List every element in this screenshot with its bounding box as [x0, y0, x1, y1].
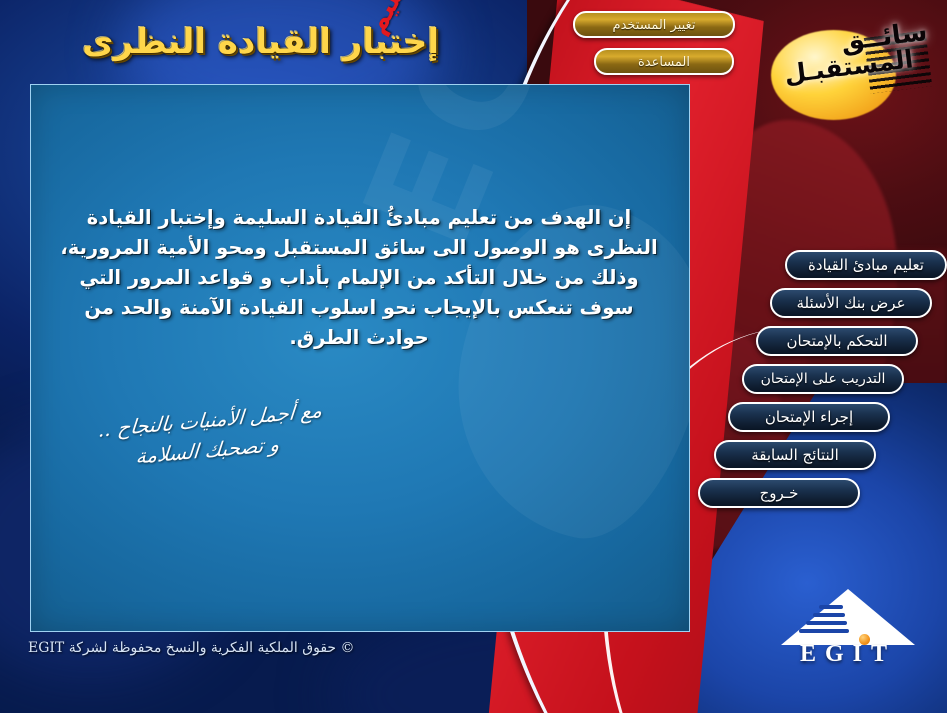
menu-item-previous-results[interactable]: النتائج السابقة — [714, 440, 876, 470]
egit-logo: EGIT — [773, 589, 923, 675]
copyright-notice: © حقوق الملكية الفكرية والنسخ محفوظة لشر… — [28, 640, 355, 656]
application-window: سائــق المستقبـل تغيير المستخدم المساعدة… — [0, 0, 947, 713]
menu-item-exam-control[interactable]: التحكم بالإمتحان — [756, 326, 918, 356]
change-user-button[interactable]: تغيير المستخدم — [573, 11, 735, 38]
menu-item-question-bank[interactable]: عرض بنك الأسئلة — [770, 288, 932, 318]
menu-item-learn-principles[interactable]: تعليم مبادئ القيادة — [785, 250, 947, 280]
pyramid-slit — [813, 613, 845, 617]
pyramid-slit — [806, 621, 847, 625]
egit-logo-text: EGIT — [773, 641, 923, 668]
main-menu: تعليم مبادئ القيادة عرض بنك الأسئلة التح… — [690, 250, 947, 550]
pyramid-icon — [781, 589, 915, 645]
pyramid-slit — [799, 629, 849, 633]
menu-item-exit[interactable]: خـروج — [698, 478, 860, 508]
menu-item-exam-training[interactable]: التدريب على الإمتحان — [742, 364, 904, 394]
menu-item-take-exam[interactable]: إجراء الإمتحان — [728, 402, 890, 432]
closing-wishes: مع أجمل الأمنيات بالنجاح .. و تصحبك السل… — [57, 392, 361, 479]
intro-paragraph: إن الهدف من تعليم مبادئُ القيادة السليمة… — [53, 203, 665, 353]
help-button[interactable]: المساعدة — [594, 48, 734, 75]
content-panel: EGIT إن الهدف من تعليم مبادئُ القيادة ال… — [30, 84, 690, 632]
brand-logo: سائــق المستقبـل — [753, 8, 933, 126]
pyramid-slit — [819, 605, 843, 609]
